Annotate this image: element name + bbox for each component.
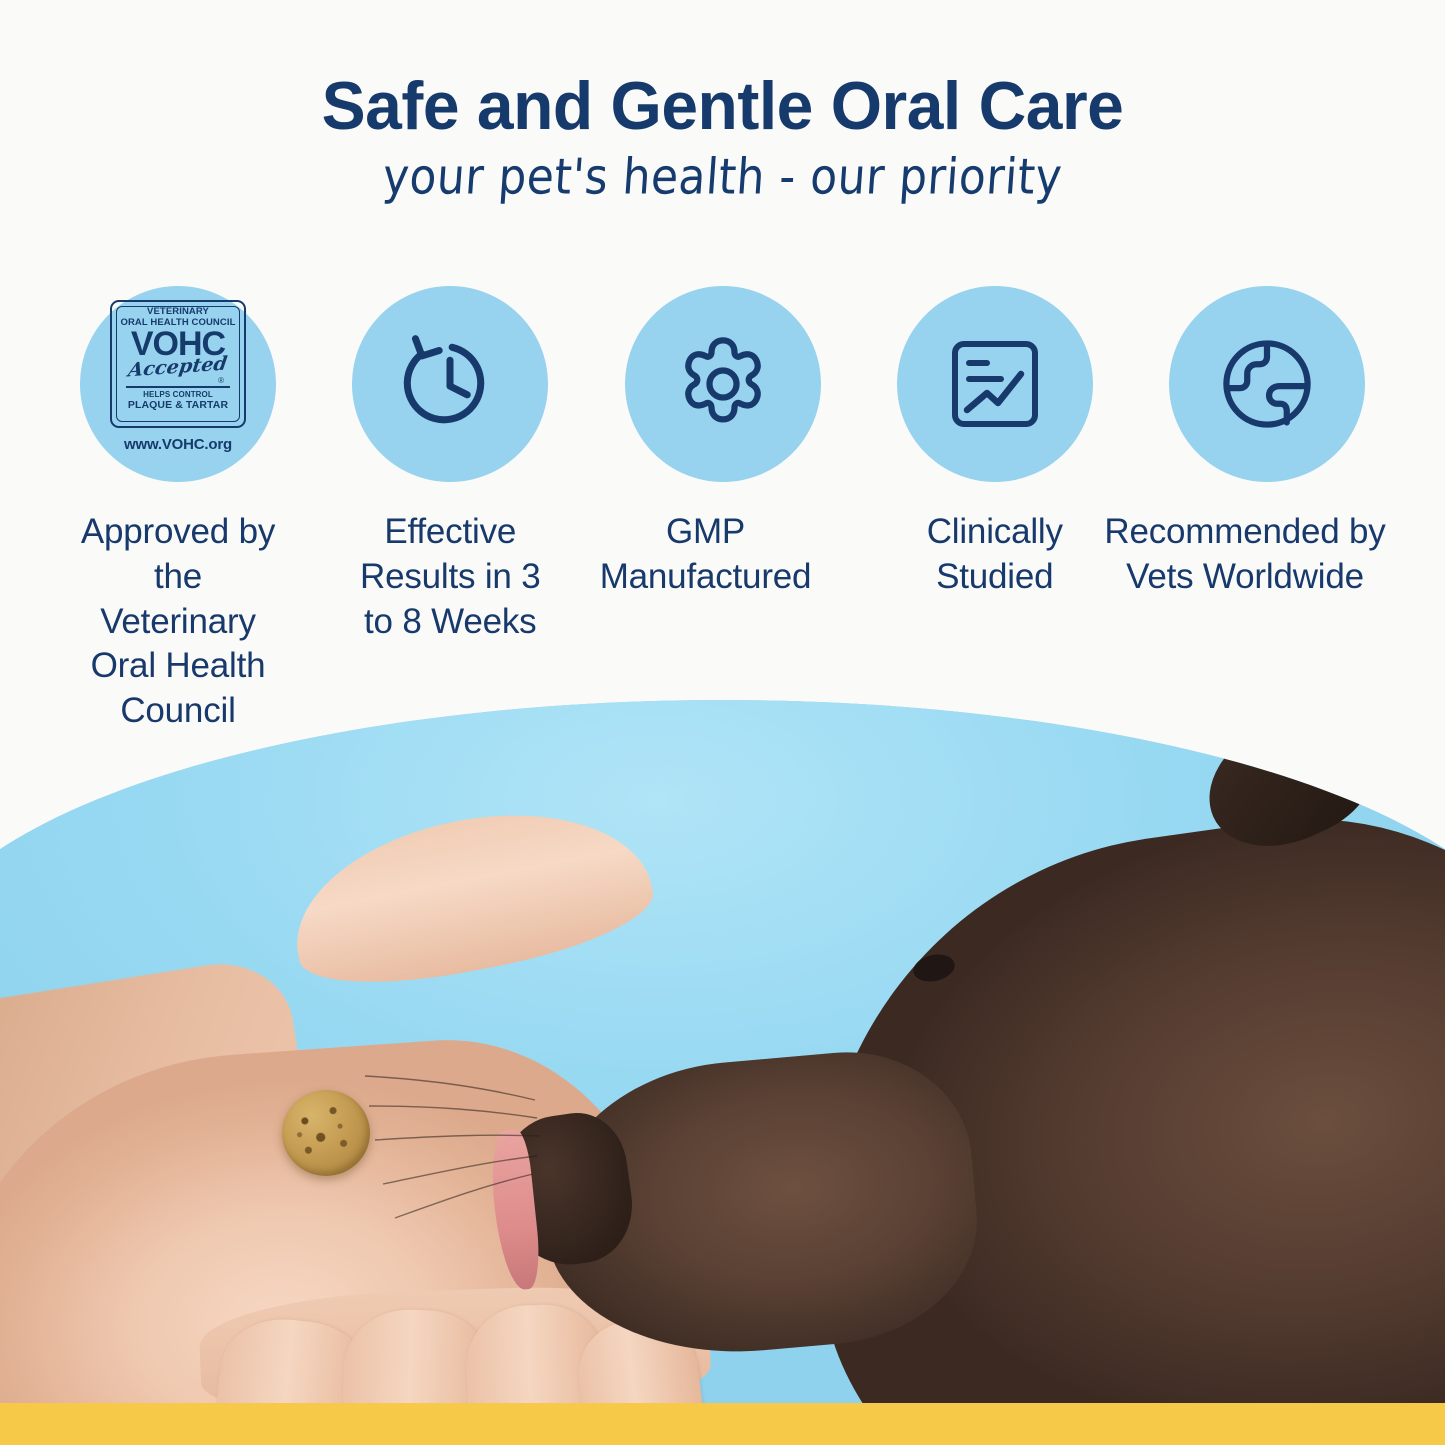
vohc-helps: HELPS CONTROL: [143, 390, 213, 400]
feature-recommended-by-vets: Recommended by Vets Worldwide: [1161, 286, 1373, 600]
feature-clinically-studied: Clinically Studied: [889, 286, 1101, 600]
feature-icon-circle: [1169, 286, 1365, 482]
feature-icon-circle: [352, 286, 548, 482]
dental-chew-treat: [282, 1090, 370, 1176]
feature-vohc-approved: VETERINARY ORAL HEALTH COUNCIL VOHC Acce…: [72, 286, 284, 734]
vohc-seal-icon: VETERINARY ORAL HEALTH COUNCIL VOHC Acce…: [99, 300, 257, 468]
feature-icon-circle: [625, 286, 821, 482]
gear-icon: [671, 332, 775, 436]
feature-label: Clinically Studied: [889, 510, 1101, 600]
page-subtitle: your pet's health - our priority: [0, 153, 1445, 202]
vohc-registered-mark: ®: [218, 376, 224, 385]
feature-label: Recommended by Vets Worldwide: [1095, 510, 1395, 600]
photo-rounded-mask: [0, 700, 1445, 1405]
feature-gmp-manufactured: GMP Manufactured: [617, 286, 829, 600]
product-lifestyle-photo: [0, 700, 1445, 1405]
clock-history-icon: [396, 330, 504, 438]
page-title: Safe and Gentle Oral Care: [22, 72, 1424, 140]
vohc-divider: [126, 386, 230, 388]
vohc-url: www.VOHC.org: [124, 436, 232, 453]
feature-effective-results: Effective Results in 3 to 8 Weeks: [344, 286, 556, 644]
feature-label: GMP Manufactured: [566, 510, 846, 600]
chart-report-icon: [945, 334, 1045, 434]
header: Safe and Gentle Oral Care your pet's hea…: [0, 0, 1445, 200]
feature-badge-row: VETERINARY ORAL HEALTH COUNCIL VOHC Acce…: [0, 286, 1445, 734]
bottom-accent-bar: [0, 1403, 1445, 1445]
feature-icon-circle: [897, 286, 1093, 482]
feature-label: Effective Results in 3 to 8 Weeks: [344, 510, 556, 644]
vohc-plaque: PLAQUE & TARTAR: [128, 399, 228, 411]
globe-icon: [1215, 332, 1319, 436]
feature-icon-circle: VETERINARY ORAL HEALTH COUNCIL VOHC Acce…: [80, 286, 276, 482]
